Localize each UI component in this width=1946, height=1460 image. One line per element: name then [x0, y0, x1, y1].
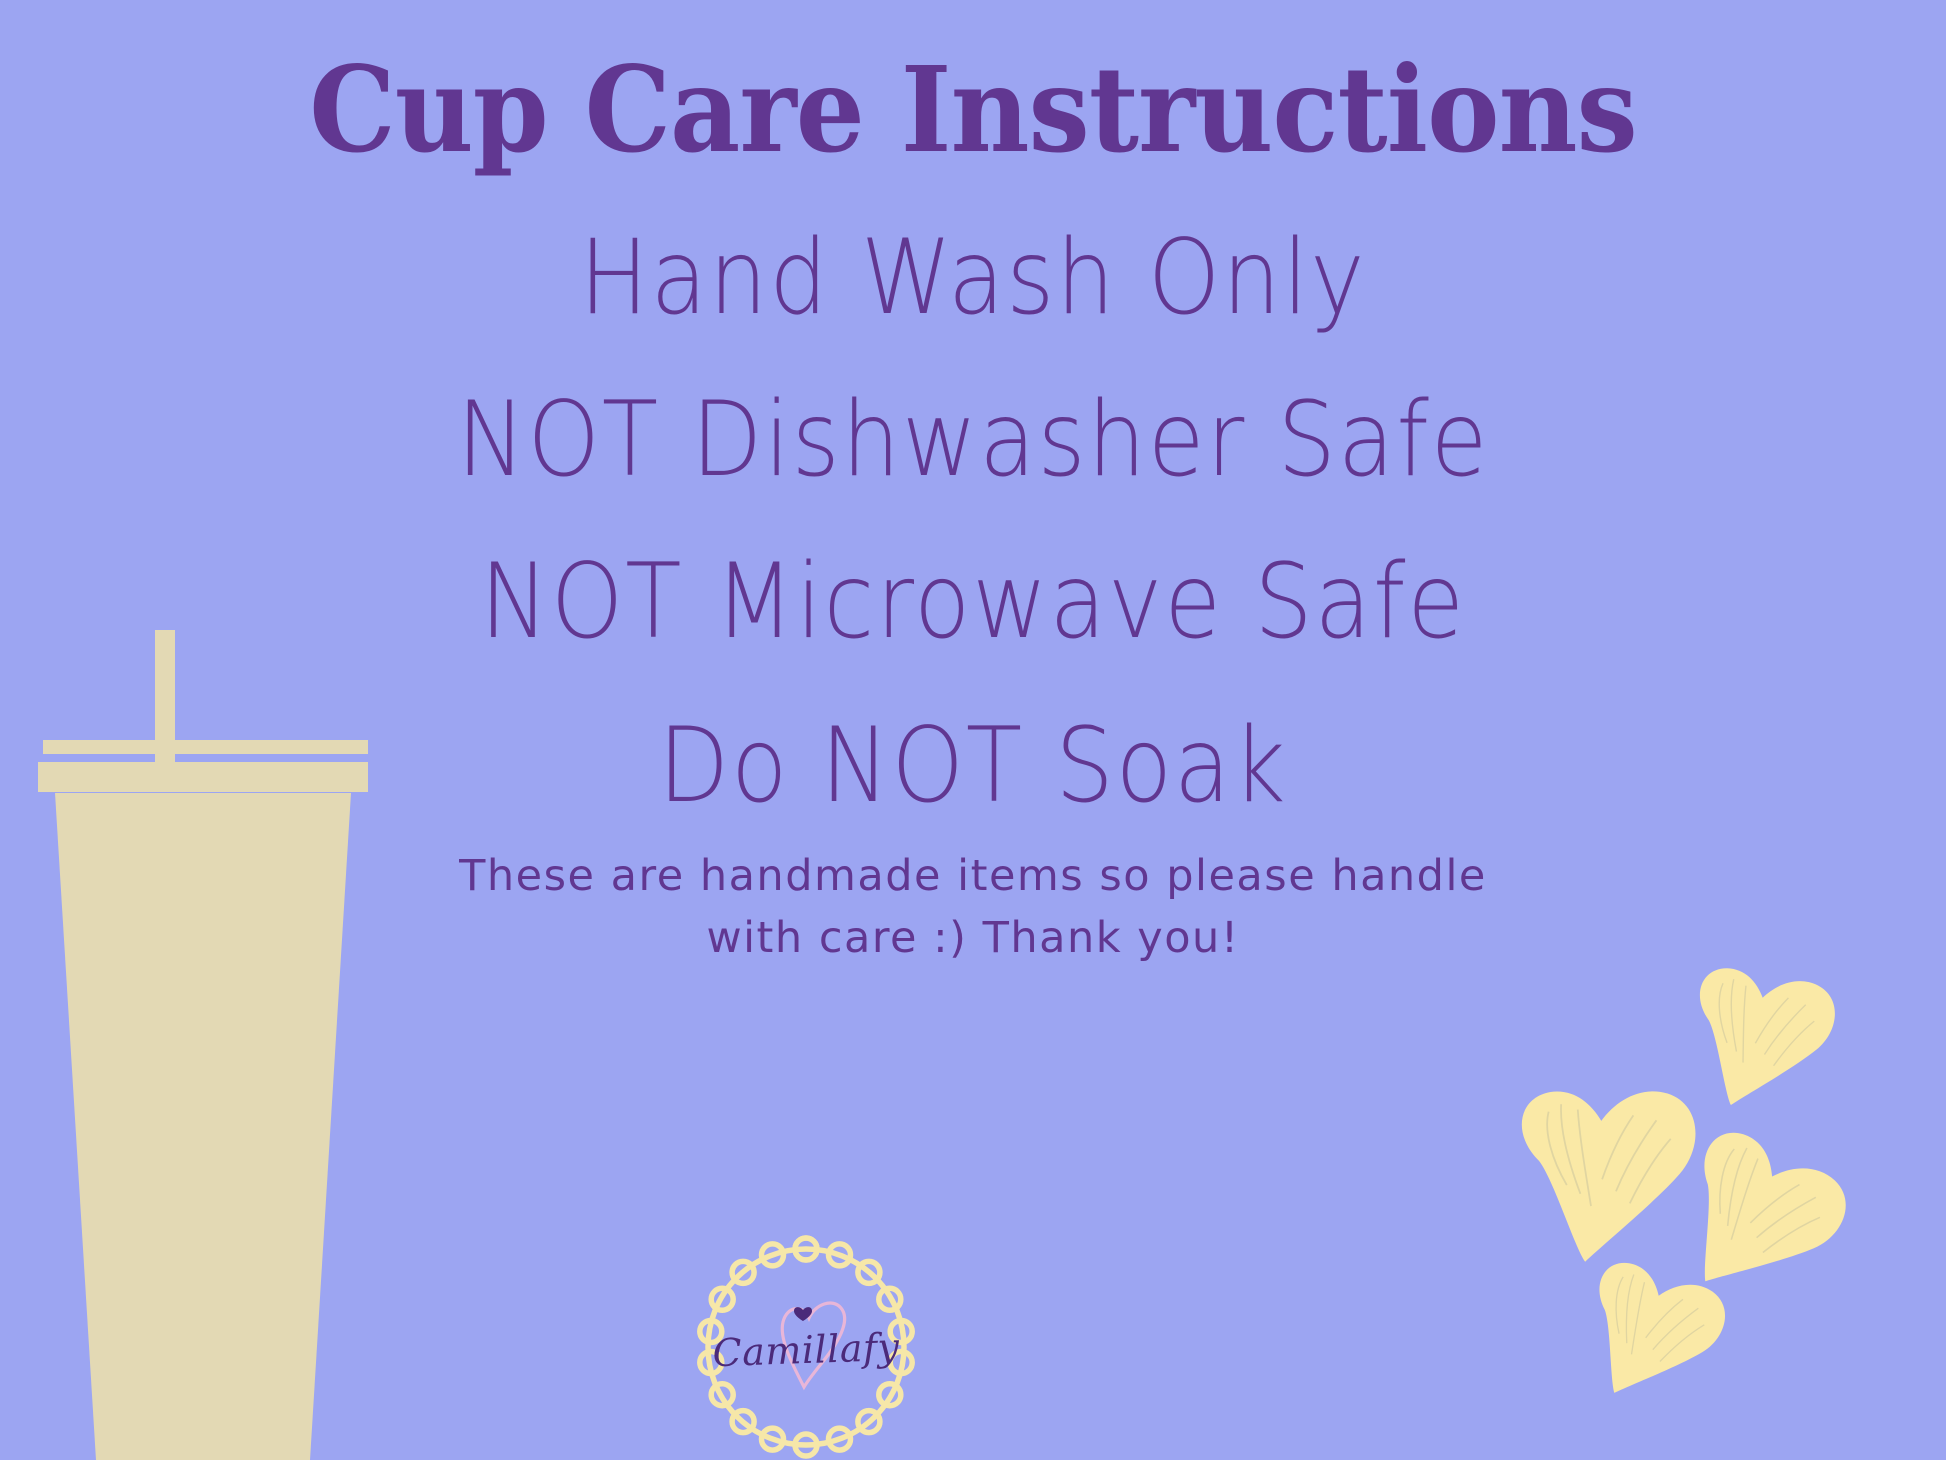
instruction-hand-wash: Hand Wash Only: [0, 218, 1946, 338]
brand-logo: Camillafy: [691, 1232, 921, 1460]
handmade-note: These are handmade items so please handl…: [0, 845, 1946, 970]
page-title: Cup Care Instructions: [78, 48, 1868, 172]
instruction-not-microwave-safe: NOT Microwave Safe: [0, 542, 1946, 662]
handmade-note-line-1: These are handmade items so please handl…: [0, 845, 1946, 907]
logo-wordmark: Camillafy: [690, 1324, 921, 1376]
poster-canvas: Cup Care Instructions Hand Wash Only NOT…: [0, 0, 1946, 1460]
instruction-do-not-soak: Do NOT Soak: [0, 706, 1946, 826]
handmade-note-line-2: with care :) Thank you!: [0, 907, 1946, 969]
instruction-not-dishwasher-safe: NOT Dishwasher Safe: [0, 380, 1946, 500]
poster-content: Cup Care Instructions Hand Wash Only NOT…: [0, 0, 1946, 1460]
